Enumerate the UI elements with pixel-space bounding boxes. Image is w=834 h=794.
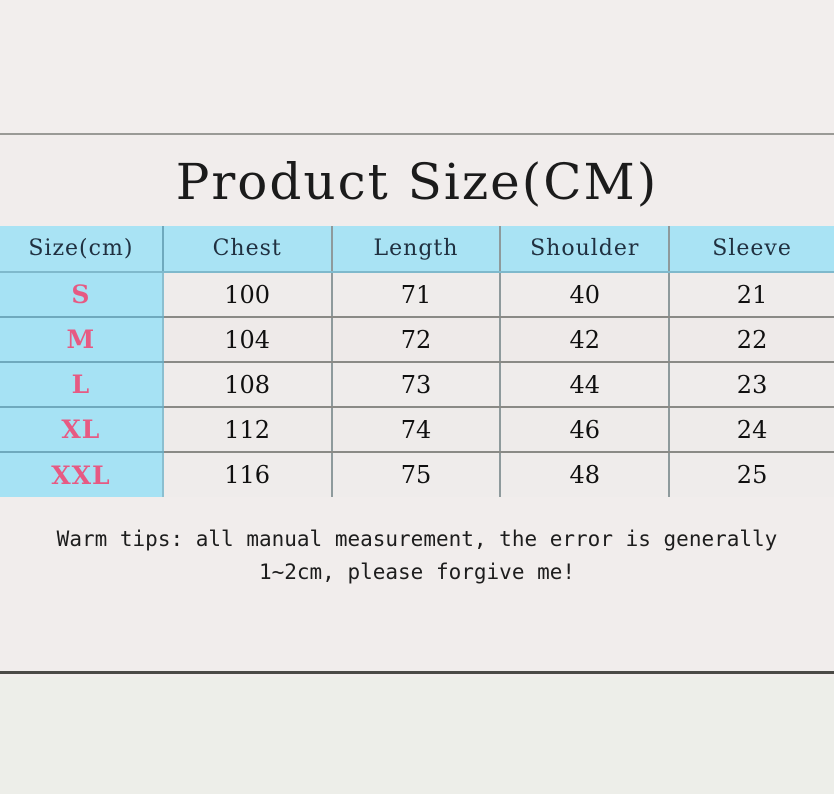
cell-shoulder-s: 40 [500,272,669,317]
cell-chest-m: 104 [163,317,332,362]
cell-size-m: M [0,317,163,362]
cell-length-xxl: 75 [332,452,501,497]
cell-size-l: L [0,362,163,407]
top-blank-area [0,0,834,133]
table-row: M 104 72 42 22 [0,317,834,362]
cell-length-s: 71 [332,272,501,317]
cell-sleeve-xl: 24 [669,407,834,452]
cell-chest-xl: 112 [163,407,332,452]
warm-tips-line-2: 1~2cm, please forgive me! [6,556,828,589]
cell-sleeve-s: 21 [669,272,834,317]
cell-shoulder-xl: 46 [500,407,669,452]
warm-tips: Warm tips: all manual measurement, the e… [0,523,834,589]
cell-shoulder-l: 44 [500,362,669,407]
column-header-size: Size(cm) [0,226,163,272]
cell-shoulder-m: 42 [500,317,669,362]
column-header-sleeve: Sleeve [669,226,834,272]
table-row: L 108 73 44 23 [0,362,834,407]
warm-tips-line-1: Warm tips: all manual measurement, the e… [6,523,828,556]
bottom-blank-area [0,677,834,794]
table-header-row: Size(cm) Chest Length Shoulder Sleeve [0,226,834,272]
table-row: S 100 71 40 21 [0,272,834,317]
cell-chest-xxl: 116 [163,452,332,497]
table-body: S 100 71 40 21 M 104 72 42 22 L 108 73 [0,272,834,497]
cell-length-m: 72 [332,317,501,362]
cell-size-xxl: XXL [0,452,163,497]
cell-sleeve-l: 23 [669,362,834,407]
cell-chest-s: 100 [163,272,332,317]
column-header-length: Length [332,226,501,272]
product-size-table: Size(cm) Chest Length Shoulder Sleeve S … [0,226,834,497]
column-header-chest: Chest [163,226,332,272]
table-row: XL 112 74 46 24 [0,407,834,452]
cell-chest-l: 108 [163,362,332,407]
table-row: XXL 116 75 48 25 [0,452,834,497]
table-header: Size(cm) Chest Length Shoulder Sleeve [0,226,834,272]
cell-size-s: S [0,272,163,317]
cell-length-l: 73 [332,362,501,407]
column-header-shoulder: Shoulder [500,226,669,272]
cell-sleeve-m: 22 [669,317,834,362]
cell-length-xl: 74 [332,407,501,452]
page-title: Product Size(CM) [0,135,834,226]
cell-sleeve-xxl: 25 [669,452,834,497]
size-chart-page: Product Size(CM) Size(cm) Chest Length S… [0,0,834,794]
size-chart-card: Product Size(CM) Size(cm) Chest Length S… [0,133,834,674]
cell-size-xl: XL [0,407,163,452]
cell-shoulder-xxl: 48 [500,452,669,497]
